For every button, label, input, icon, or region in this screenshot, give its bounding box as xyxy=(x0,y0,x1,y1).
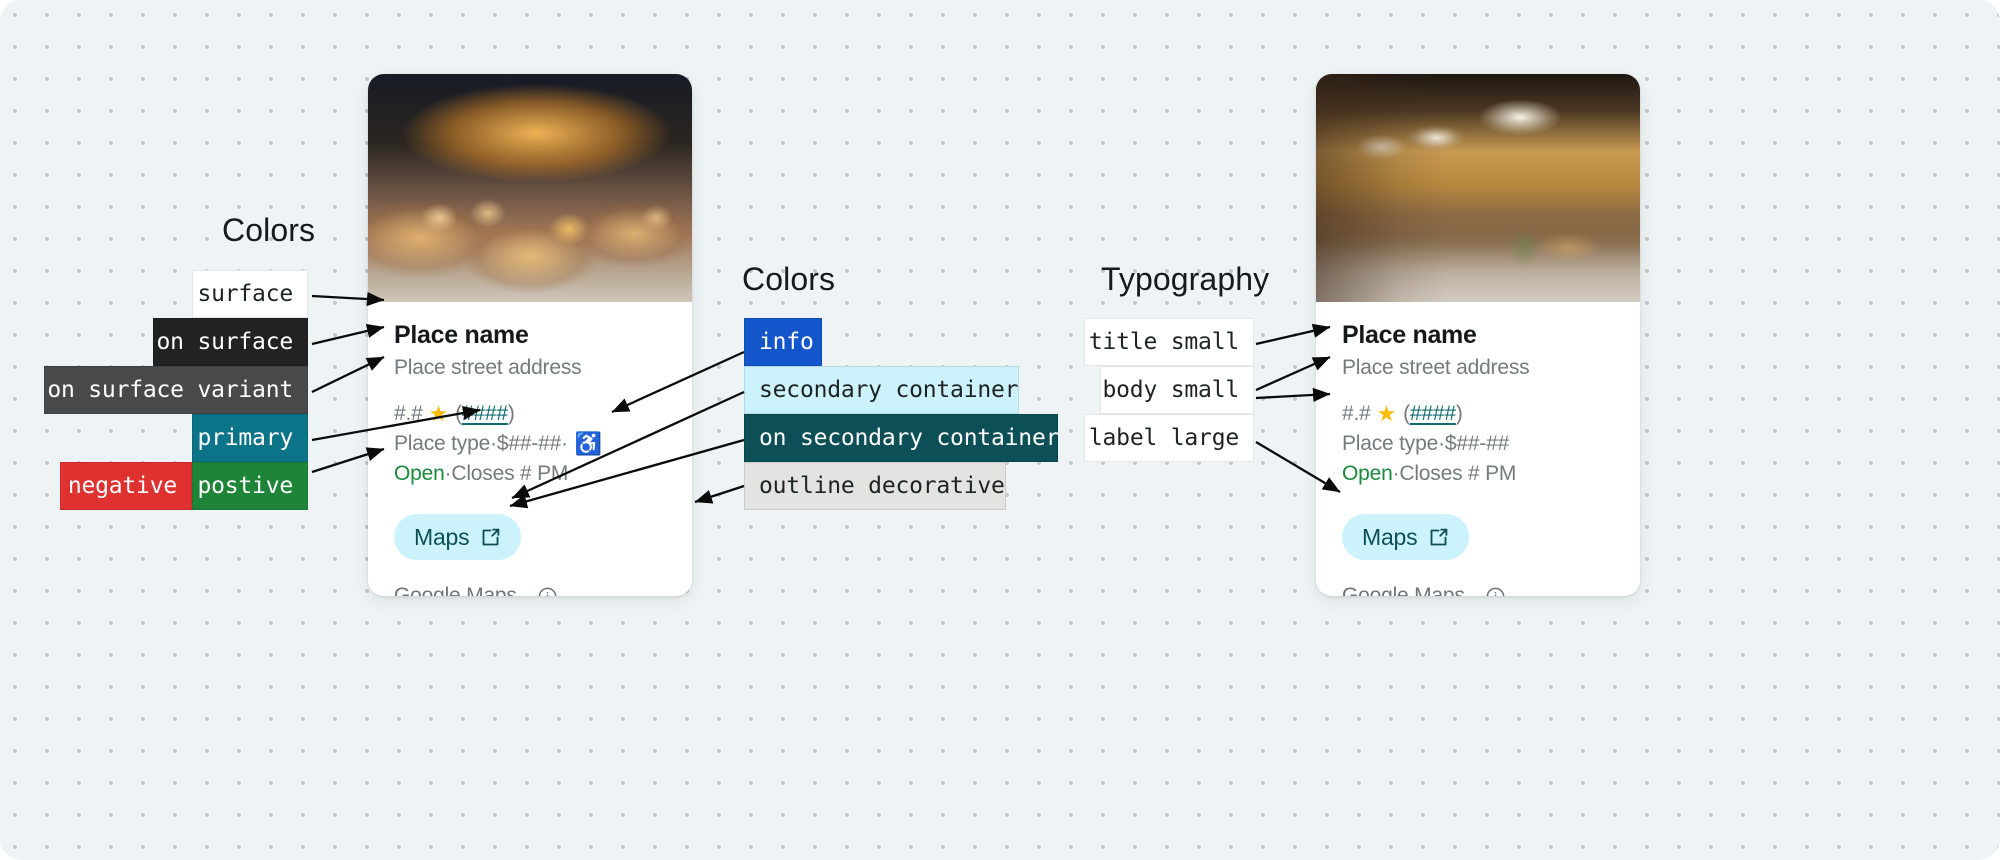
color-chip-label: outline decorative xyxy=(759,473,1005,499)
maps-button[interactable]: Maps xyxy=(1342,514,1469,560)
info-icon[interactable] xyxy=(537,586,558,596)
color-chip-label: on surface variant xyxy=(47,377,293,403)
card-footer: Google Maps xyxy=(368,560,692,596)
design-annotation-canvas: Colors Colors Typography surface on surf… xyxy=(0,0,2000,860)
typography-chip-label: title small xyxy=(1089,329,1239,355)
meta-separator: · xyxy=(1393,459,1400,489)
color-chip-secondary-container[interactable]: secondary container xyxy=(744,366,1019,414)
rating-close-paren: ) xyxy=(1456,399,1463,429)
color-chip-label: surface xyxy=(197,281,293,307)
color-chip-surface[interactable]: surface xyxy=(192,270,308,318)
card-footer: Google Maps xyxy=(1316,560,1640,596)
typography-chip-body-small[interactable]: body small xyxy=(1100,366,1254,414)
status-hours: Closes # PM xyxy=(451,459,568,489)
typography-chip-title-small[interactable]: title small xyxy=(1084,318,1254,366)
place-hours-line: Open · Closes # PM xyxy=(1342,459,1614,489)
wheelchair-accessible-icon: ♿ xyxy=(575,433,602,455)
price-range: $##-## xyxy=(1445,429,1509,459)
external-link-icon xyxy=(480,527,501,548)
color-chip-postive[interactable]: postive xyxy=(192,462,308,510)
price-range: $##-## xyxy=(497,429,561,459)
typography-chip-label: label large xyxy=(1089,425,1239,451)
place-rating-line: #.# ★ (####) xyxy=(1342,399,1614,429)
section-title-typography: Typography xyxy=(1101,261,1269,298)
place-name: Place name xyxy=(1342,320,1614,351)
meta-separator: · xyxy=(445,459,452,489)
star-icon: ★ xyxy=(1377,403,1397,425)
color-chip-label: on secondary container xyxy=(759,425,1059,451)
maps-button-label: Maps xyxy=(414,524,469,551)
color-chip-outline-decorative[interactable]: outline decorative xyxy=(744,462,1006,510)
color-chip-label: postive xyxy=(197,473,293,499)
color-chip-label: secondary container xyxy=(759,377,1018,403)
section-title-colors-middle: Colors xyxy=(742,261,835,298)
color-chip-label: negative xyxy=(68,473,177,499)
maps-button-label: Maps xyxy=(1362,524,1417,551)
place-address: Place street address xyxy=(1342,353,1614,382)
maps-button[interactable]: Maps xyxy=(394,514,521,560)
rating-value: #.# xyxy=(394,399,423,429)
place-type-line: Place type · $##-## · ♿ xyxy=(394,429,666,459)
status-open: Open xyxy=(1342,459,1393,489)
rating-value: #.# xyxy=(1342,399,1371,429)
status-open: Open xyxy=(394,459,445,489)
meta-separator: · xyxy=(561,429,568,459)
color-chip-primary[interactable]: primary xyxy=(192,414,308,462)
rating-close-paren: ) xyxy=(508,399,515,429)
meta-separator: · xyxy=(490,429,497,459)
place-hours-line: Open · Closes # PM xyxy=(394,459,666,489)
typography-chip-label: body small xyxy=(1103,377,1239,403)
color-chip-on-surface-variant[interactable]: on surface variant xyxy=(44,366,308,414)
meta-separator: · xyxy=(1438,429,1445,459)
color-chip-negative[interactable]: negative xyxy=(60,462,192,510)
star-icon: ★ xyxy=(429,403,449,425)
place-type: Place type xyxy=(394,429,490,459)
color-chip-label: on surface xyxy=(157,329,293,355)
rating-open-paren: ( xyxy=(1403,399,1410,429)
place-name: Place name xyxy=(394,320,666,351)
place-card-secondary[interactable]: Place name Place street address #.# ★ (#… xyxy=(1316,74,1640,596)
typography-chip-label-large[interactable]: label large xyxy=(1084,414,1254,462)
place-photo xyxy=(1316,74,1640,302)
color-chip-label: primary xyxy=(197,425,293,451)
color-chip-on-surface[interactable]: on surface xyxy=(153,318,308,366)
color-chip-on-secondary-container[interactable]: on secondary container xyxy=(744,414,1058,462)
place-rating-line: #.# ★ (####) xyxy=(394,399,666,429)
rating-open-paren: ( xyxy=(455,399,462,429)
external-link-icon xyxy=(1428,527,1449,548)
place-card-primary[interactable]: Place name Place street address #.# ★ (#… xyxy=(368,74,692,596)
rating-count-link[interactable]: #### xyxy=(1410,399,1456,429)
arrow-outline-decorative-to-card-outline xyxy=(695,486,744,502)
footer-attribution: Google Maps xyxy=(394,584,517,596)
color-chip-info[interactable]: info xyxy=(744,318,822,366)
place-photo xyxy=(368,74,692,302)
status-hours: Closes # PM xyxy=(1399,459,1516,489)
section-title-colors-left: Colors xyxy=(222,212,315,249)
rating-count-link[interactable]: #### xyxy=(462,399,508,429)
place-type: Place type xyxy=(1342,429,1438,459)
place-type-line: Place type · $##-## xyxy=(1342,429,1614,459)
place-address: Place street address xyxy=(394,353,666,382)
info-icon[interactable] xyxy=(1485,586,1506,596)
color-chip-label: info xyxy=(759,329,814,355)
footer-attribution: Google Maps xyxy=(1342,584,1465,596)
